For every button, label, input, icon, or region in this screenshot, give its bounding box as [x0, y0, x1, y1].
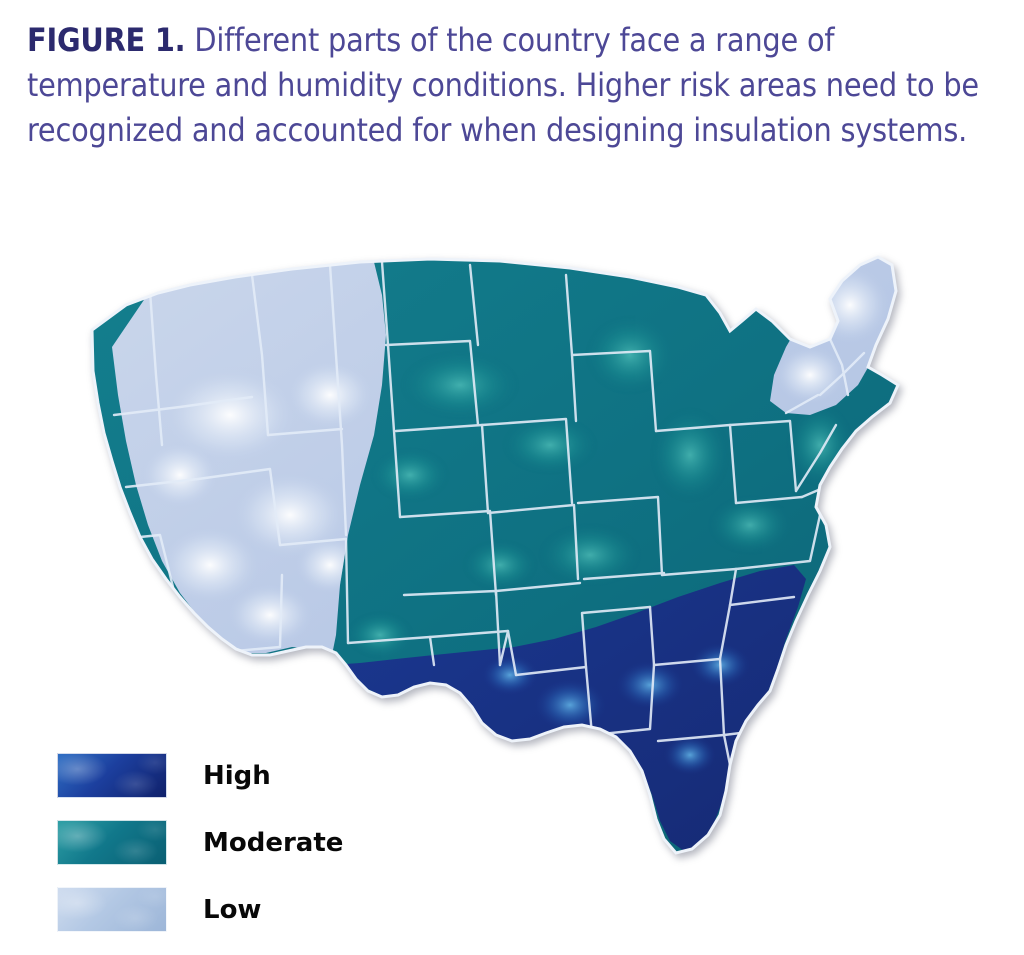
legend-swatch-low [57, 887, 167, 932]
legend-label-high: High [203, 761, 271, 791]
legend-swatch-moderate [57, 820, 167, 865]
legend-swatch-high [57, 753, 167, 798]
legend-item-high: High [57, 753, 387, 798]
legend-item-moderate: Moderate [57, 820, 387, 865]
us-risk-map: High Moderate Low [0, 215, 1024, 915]
legend-label-moderate: Moderate [203, 828, 343, 858]
page-title: FIGURE 1. Different parts of the country… [27, 18, 987, 153]
legend-label-low: Low [203, 895, 261, 925]
map-legend: High Moderate Low [57, 753, 387, 954]
legend-item-low: Low [57, 887, 387, 932]
figure-number-label: FIGURE 1. [27, 21, 185, 59]
